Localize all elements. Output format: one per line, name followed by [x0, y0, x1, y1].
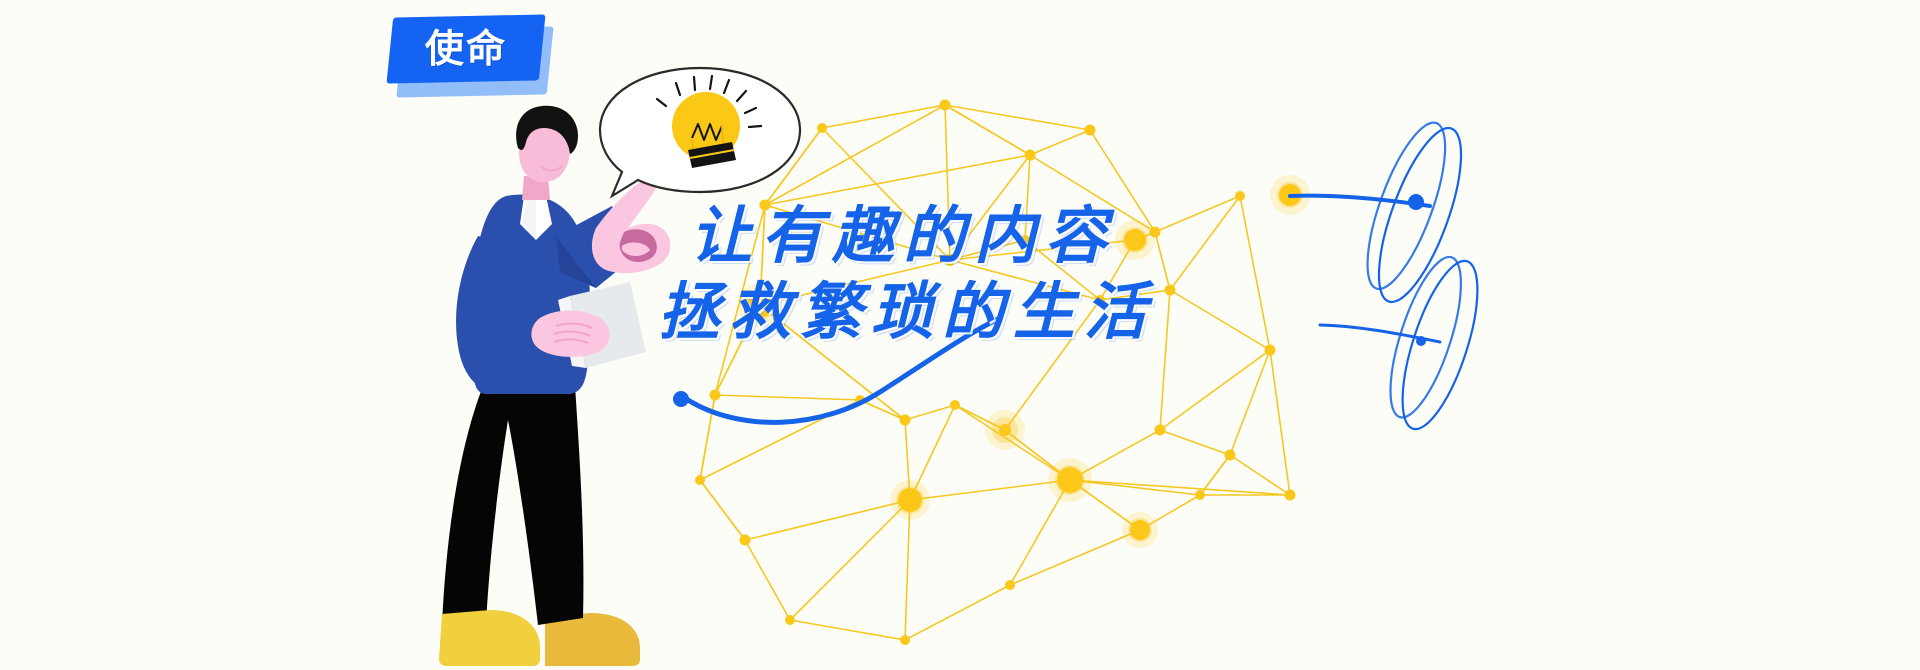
mission-banner: 使命 让有趣的内容 拯救繁琐的生活 [0, 0, 1920, 670]
idea-bubble [0, 0, 1920, 670]
